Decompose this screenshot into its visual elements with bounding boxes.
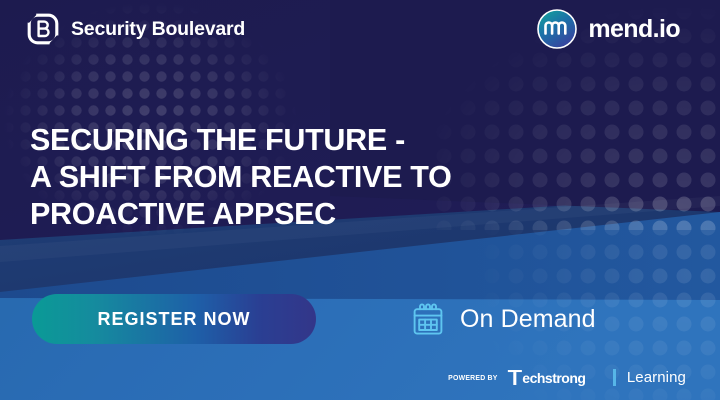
headline-line-2: A SHIFT FROM REACTIVE TO — [30, 159, 452, 196]
availability-group: On Demand — [412, 302, 596, 336]
register-now-button[interactable]: REGISTER NOW — [32, 294, 316, 344]
headline-line-3: PROACTIVE APPSEC — [30, 196, 452, 233]
mend-io-logo[interactable]: mend.io — [536, 8, 680, 50]
banner-header: Security Boulevard mend.io — [0, 0, 720, 62]
techstrong-learning-label: Learning — [627, 369, 686, 386]
calendar-icon — [412, 302, 444, 336]
headline-line-1: SECURING THE FUTURE - — [30, 122, 452, 159]
svg-text:echstrong: echstrong — [522, 370, 585, 386]
mend-io-wordmark: mend.io — [588, 15, 680, 44]
cta-row: REGISTER NOW On Demand — [32, 294, 596, 344]
availability-label: On Demand — [460, 305, 596, 334]
powered-by-label: POWERED BY — [448, 373, 497, 382]
security-boulevard-logo[interactable]: Security Boulevard — [26, 12, 245, 46]
security-boulevard-wordmark: Security Boulevard — [71, 18, 245, 41]
techstrong-logo: echstrong — [507, 369, 602, 386]
webinar-promo-banner: Security Boulevard mend.io SECURING THE … — [0, 0, 720, 400]
footer-divider — [613, 369, 616, 386]
security-boulevard-b-mark — [26, 12, 60, 46]
footer-attribution[interactable]: POWERED BY echstrong Learning — [446, 369, 686, 386]
headline: SECURING THE FUTURE - A SHIFT FROM REACT… — [30, 122, 452, 233]
mend-io-circle-wave-mark — [536, 8, 578, 50]
